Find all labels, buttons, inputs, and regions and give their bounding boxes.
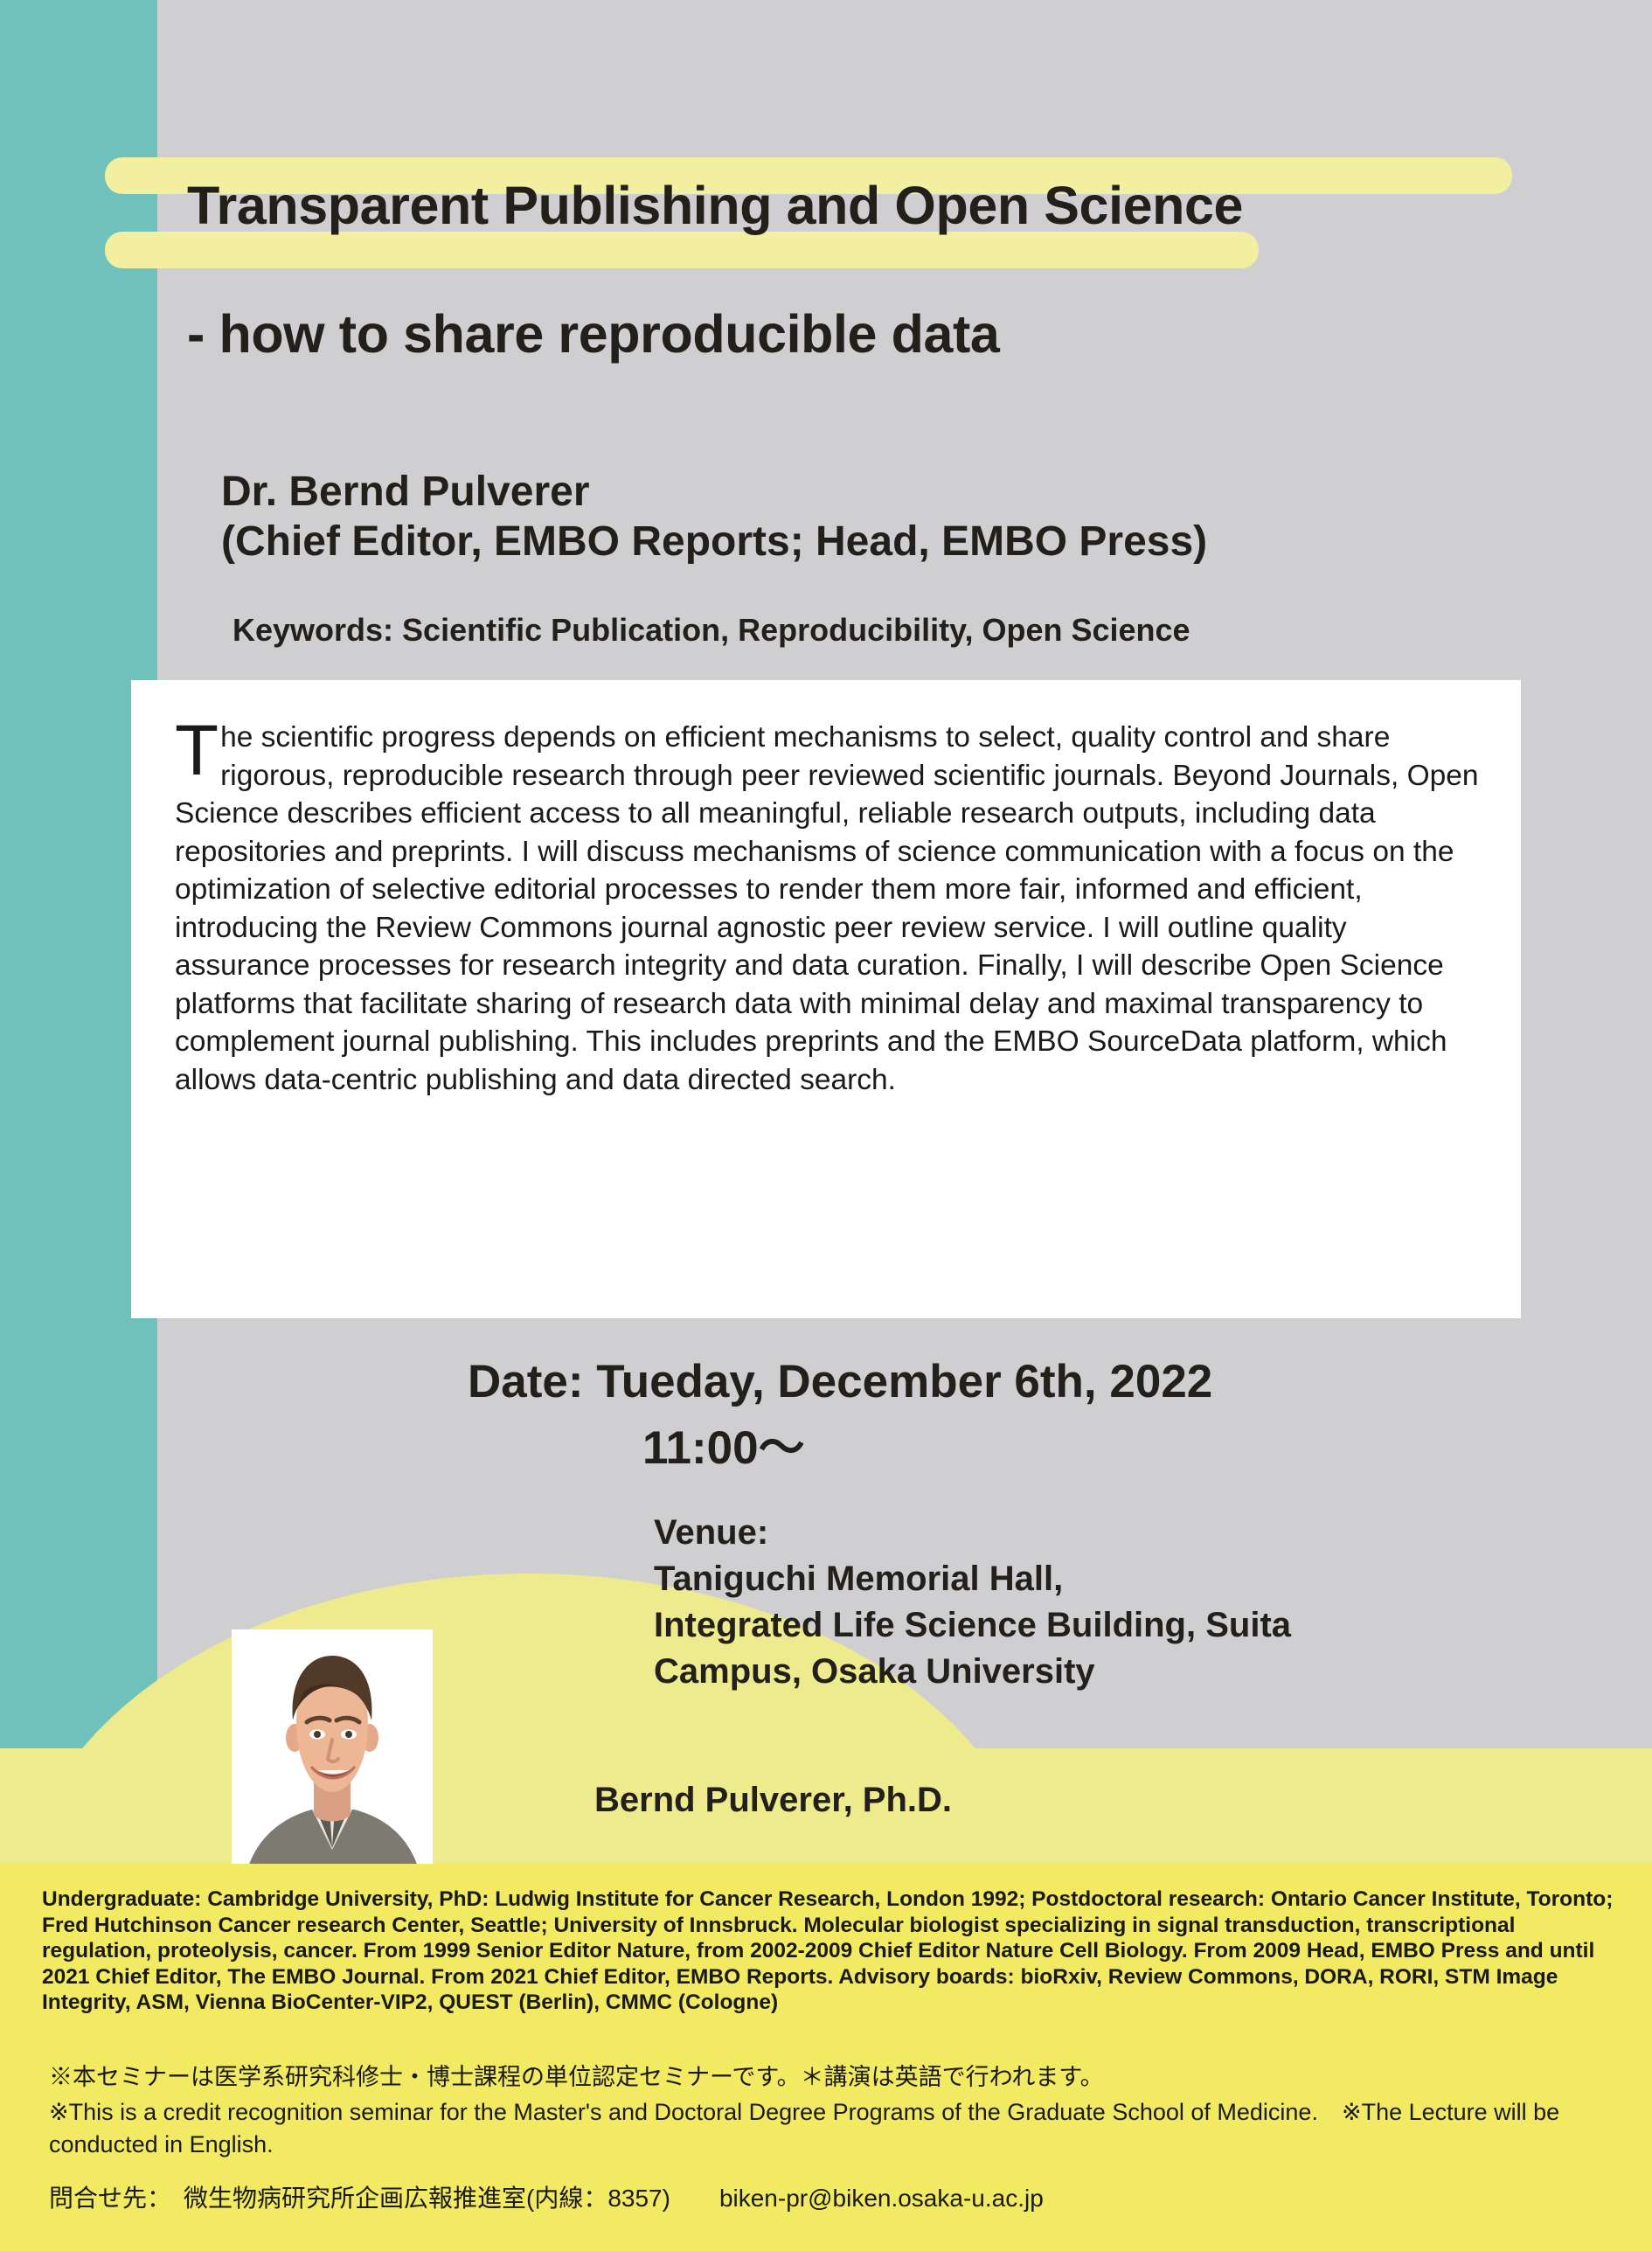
abstract-panel: The scientific progress depends on effic… bbox=[131, 680, 1521, 1318]
venue-line-3: Campus, Osaka University bbox=[654, 1649, 1291, 1695]
note-japanese: ※本セミナーは医学系研究科修士・博士課程の単位認定セミナーです。＊講演は英語で行… bbox=[49, 2061, 1622, 2094]
event-time: 11:00〜 bbox=[642, 1422, 805, 1476]
keywords-line: Keywords: Scientific Publication, Reprod… bbox=[233, 612, 1190, 649]
abstract-body: he scientific progress depends on effici… bbox=[175, 721, 1479, 1096]
event-date: Date: Tueday, December 6th, 2022 bbox=[468, 1356, 1212, 1409]
photo-caption: Bernd Pulverer, Ph.D. bbox=[594, 1781, 952, 1820]
abstract-text: The scientific progress depends on effic… bbox=[175, 719, 1486, 1099]
speaker-bio: Undergraduate: Cambridge University, PhD… bbox=[42, 1886, 1615, 2016]
venue-label: Venue: bbox=[654, 1510, 1291, 1556]
speaker-photo bbox=[232, 1629, 433, 1883]
speaker-portrait-image bbox=[232, 1629, 433, 1883]
seminar-poster: Transparent Publishing and Open Science … bbox=[0, 0, 1652, 2251]
speaker-affiliation: (Chief Editor, EMBO Reports; Head, EMBO … bbox=[221, 518, 1207, 566]
contact-line: 問合せ先： 微生物病研究所企画広報推進室(内線：8357) biken-pr@b… bbox=[49, 2182, 1044, 2214]
venue-line-2: Integrated Life Science Building, Suita bbox=[654, 1602, 1291, 1649]
event-venue: Venue: Taniguchi Memorial Hall, Integrat… bbox=[654, 1510, 1291, 1695]
title-highlight-bar-2 bbox=[105, 232, 1259, 268]
poster-title-line-1: Transparent Publishing and Open Science bbox=[187, 179, 1243, 233]
date-value: Tueday, December 6th, 2022 bbox=[596, 1356, 1212, 1407]
venue-line-1: Taniguchi Memorial Hall, bbox=[654, 1556, 1291, 1602]
date-label: Date: bbox=[468, 1356, 584, 1407]
note-english: ※This is a credit recognition seminar fo… bbox=[49, 2096, 1614, 2161]
abstract-dropcap: T bbox=[175, 724, 219, 778]
poster-title-line-2: - how to share reproducible data bbox=[187, 308, 999, 361]
speaker-name: Dr. Bernd Pulverer bbox=[221, 468, 590, 517]
